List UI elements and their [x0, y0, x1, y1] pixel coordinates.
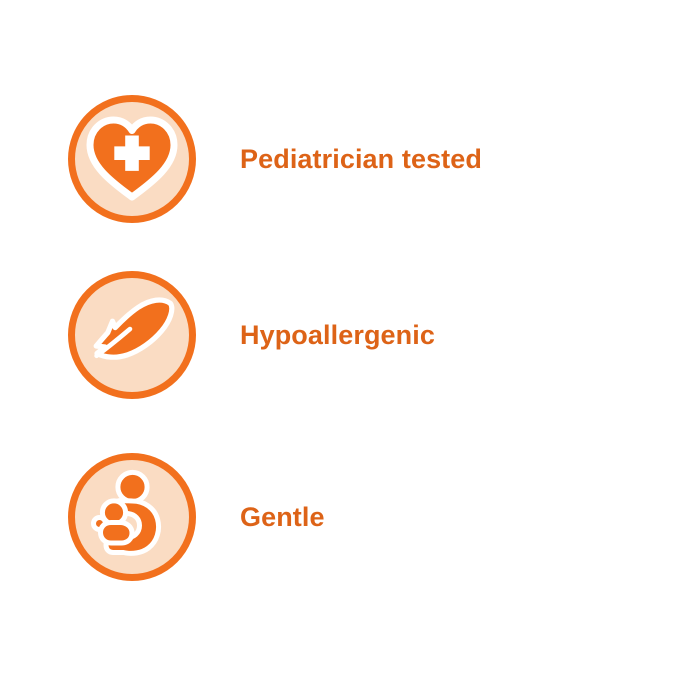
feather-icon [82, 285, 182, 385]
feature-row: Pediatrician tested [0, 91, 679, 227]
feature-label-pediatrician: Pediatrician tested [240, 91, 482, 227]
badge-circle-hypoallergenic [68, 271, 196, 399]
badge-circle-pediatrician [68, 95, 196, 223]
feature-label-hypoallergenic: Hypoallergenic [240, 267, 435, 403]
feature-row: Gentle [0, 449, 679, 585]
heart-with-cross-icon [82, 109, 182, 209]
mother-and-baby-icon [82, 467, 182, 567]
feature-label-gentle: Gentle [240, 449, 325, 585]
feature-badge-panel: Pediatrician tested Hypoallergenic [0, 0, 679, 679]
badge-circle-gentle [68, 453, 196, 581]
feature-row: Hypoallergenic [0, 267, 679, 403]
